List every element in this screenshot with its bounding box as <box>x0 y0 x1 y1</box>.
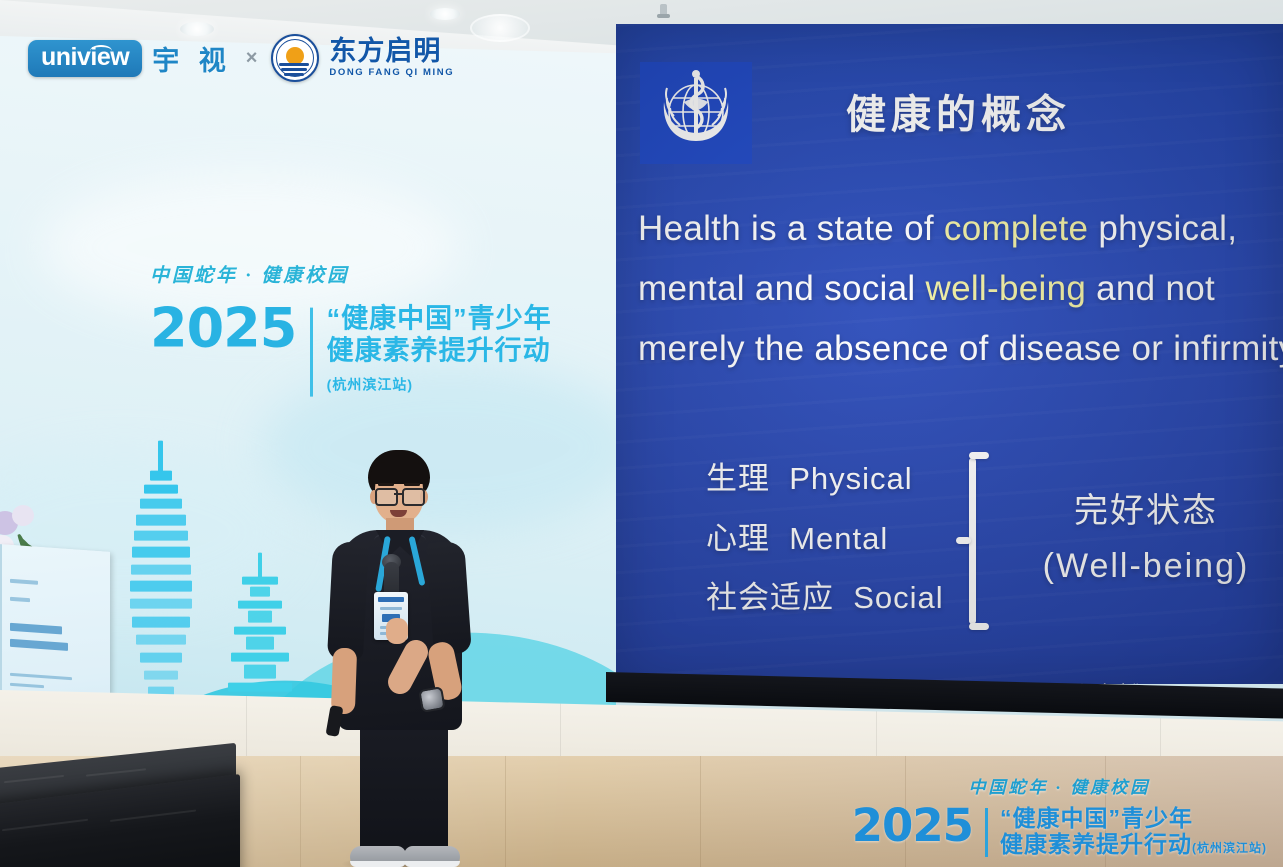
partner-chinese-name: 东方启明 <box>329 38 454 65</box>
partner-english-name: DONG FANG QI MING <box>329 68 454 78</box>
poster-branding: 中国蛇年 · 健康校园 2025 “健康中国”青少年 健康素养提升行动(杭州滨江… <box>150 261 570 397</box>
watermark-line-1: “健康中国”青少年 <box>1000 805 1267 831</box>
ceiling-spot-ring <box>470 14 530 42</box>
glasses-bridge <box>394 493 404 495</box>
speaker-leg-left <box>360 718 404 856</box>
glasses-lens-left <box>375 488 398 506</box>
speaker-brow-right <box>404 483 420 486</box>
watermark-divider <box>985 808 988 857</box>
sign-text-line <box>10 597 30 602</box>
monitor-vent <box>110 809 196 822</box>
sign-text-line <box>10 683 44 688</box>
speaker-hand-holding-mic <box>386 618 408 644</box>
sign-text-line <box>10 623 62 635</box>
watermark-year: 2025 <box>852 805 973 846</box>
ceiling-downlight <box>430 8 460 20</box>
speaker-shoe-left <box>350 846 406 867</box>
speaker-sleeve-right <box>426 541 472 655</box>
poster-script-line: 中国蛇年 · 健康校园 <box>150 261 570 288</box>
speaker-shoe-right <box>404 846 460 867</box>
speaker-figure <box>330 450 470 867</box>
monitor-vent <box>86 768 146 776</box>
sign-text-line <box>10 673 72 680</box>
poster-line-1: “健康中国”青少年 <box>327 304 570 334</box>
wristwatch <box>418 686 446 713</box>
poster-year: 2025 <box>150 304 296 354</box>
cross-icon: × <box>246 47 258 70</box>
uniview-chinese-name: 宇 视 <box>152 39 232 78</box>
monitor-vent <box>4 775 64 783</box>
speaker-arm-left <box>331 648 357 715</box>
presentation-photo: 中国蛇年 · 健康校园 2025 “健康中国”青少年 健康素养提升行动(杭州滨江… <box>0 0 1283 867</box>
led-vignette <box>616 24 1283 684</box>
led-slide-screen: 健康的概念 Health is a state of complete phys… <box>616 24 1283 684</box>
flower-petal <box>12 505 34 526</box>
speaker-brow-left <box>378 483 394 486</box>
sprinkler-head <box>660 4 667 16</box>
sign-text-line <box>10 639 68 651</box>
uniview-wordmark: uniview <box>41 45 129 70</box>
uniview-arc-icon <box>90 45 112 57</box>
speaker-fringe <box>370 462 428 484</box>
bottom-right-watermark: 中国蛇年 · 健康校园 2025 “健康中国”青少年 健康素养提升行动(杭州滨江… <box>852 773 1267 857</box>
speaker-leg-right <box>404 718 448 856</box>
sign-text-line <box>10 579 38 585</box>
poster-divider <box>310 308 312 397</box>
watermark-line-2: 健康素养提升行动(杭州滨江站) <box>1000 831 1267 857</box>
pixel-tower-graphic <box>118 441 204 731</box>
speaker-sleeve-left <box>327 541 369 661</box>
monitor-vent <box>2 819 88 832</box>
poster-line-2: 健康素养提升行动(杭州滨江站) <box>327 336 570 396</box>
poster-sub: (杭州滨江站) <box>327 377 413 393</box>
partner-name-block: 东方启明 DONG FANG QI MING <box>329 38 454 78</box>
uniview-logo: uniview <box>28 40 142 77</box>
watermark-script-line: 中国蛇年 · 健康校园 <box>852 773 1267 798</box>
glasses-lens-right <box>402 488 425 506</box>
partner-seal-icon <box>271 34 319 82</box>
watermark-sub: (杭州滨江站) <box>1192 841 1267 855</box>
top-left-branding: uniview 宇 视 × 东方启明 DONG FANG QI MING <box>28 34 454 82</box>
